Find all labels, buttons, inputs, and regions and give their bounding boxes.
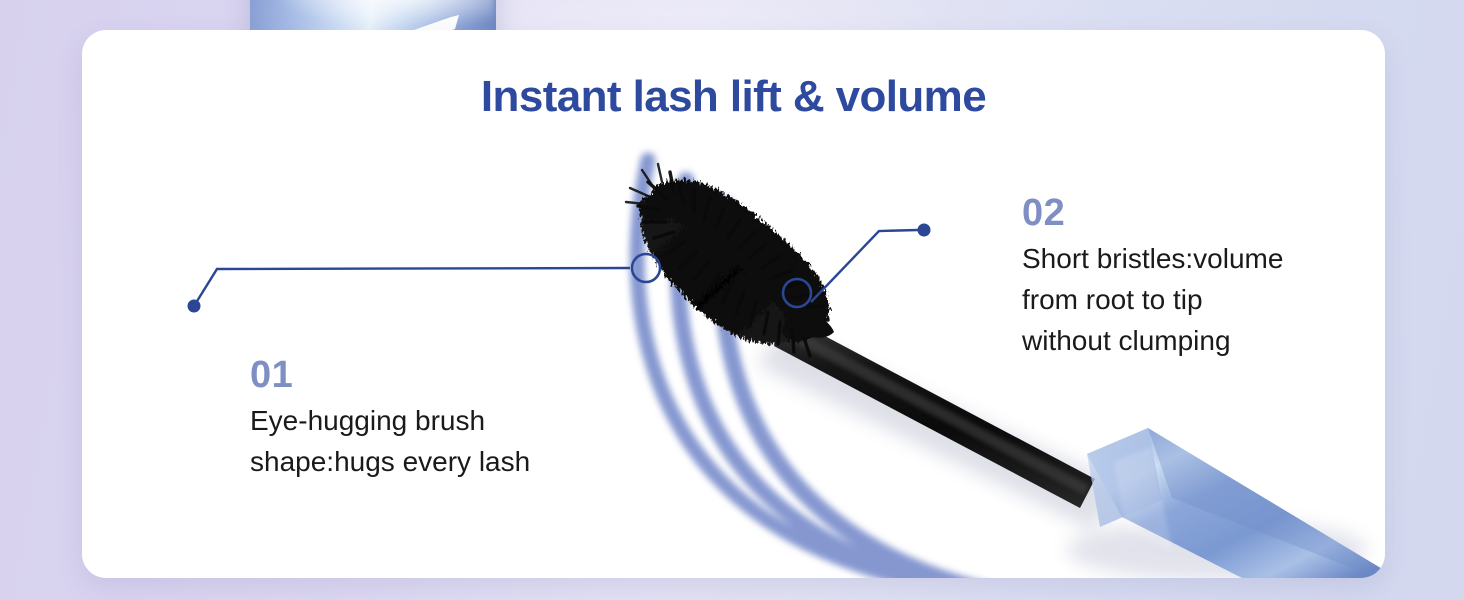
callout-02-number: 02 (1022, 194, 1283, 232)
callout-01: 01 Eye-hugging brush shape:hugs every la… (250, 356, 530, 482)
callout-01-marker (632, 254, 660, 282)
callout-01-text: Eye-hugging brush shape:hugs every lash (250, 400, 530, 482)
product-feature-banner: Instant lash lift & volume (0, 0, 1464, 600)
callout-02-text: Short bristles:volume from root to tip w… (1022, 238, 1283, 361)
page-title: Instant lash lift & volume (82, 72, 1385, 122)
callout-01-number: 01 (250, 356, 530, 394)
callout-02: 02 Short bristles:volume from root to ti… (1022, 194, 1283, 361)
feature-card: Instant lash lift & volume (82, 30, 1385, 578)
callout-02-dot (918, 224, 931, 237)
callout-01-dot (188, 300, 201, 313)
callout-02-marker (783, 279, 811, 307)
